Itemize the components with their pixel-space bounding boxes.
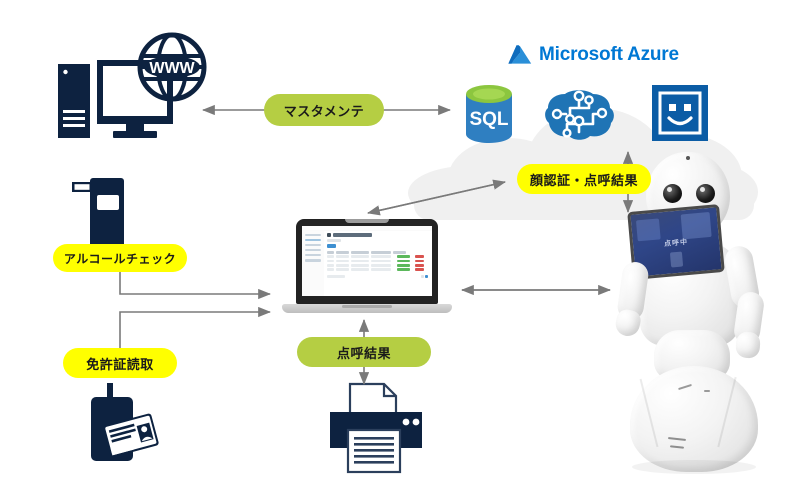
label-face-auth-result-text: 顔認証・点呼結果 (530, 170, 638, 189)
label-alcohol-check-text: アルコールチェック (64, 250, 176, 267)
label-license-read[interactable]: 免許証読取 (63, 348, 177, 378)
label-face-auth-result[interactable]: 顔認証・点呼結果 (517, 164, 651, 194)
label-master-maintenance-text: マスタメンテ (284, 101, 365, 120)
label-roll-call-result[interactable]: 点呼結果 (297, 337, 431, 367)
label-alcohol-check[interactable]: アルコールチェック (53, 244, 187, 272)
label-master-maintenance[interactable]: マスタメンテ (264, 94, 384, 126)
label-roll-call-result-text: 点呼結果 (337, 343, 391, 362)
diagram-canvas: Microsoft Azure SQL (0, 0, 800, 500)
label-license-read-text: 免許証読取 (86, 354, 154, 373)
